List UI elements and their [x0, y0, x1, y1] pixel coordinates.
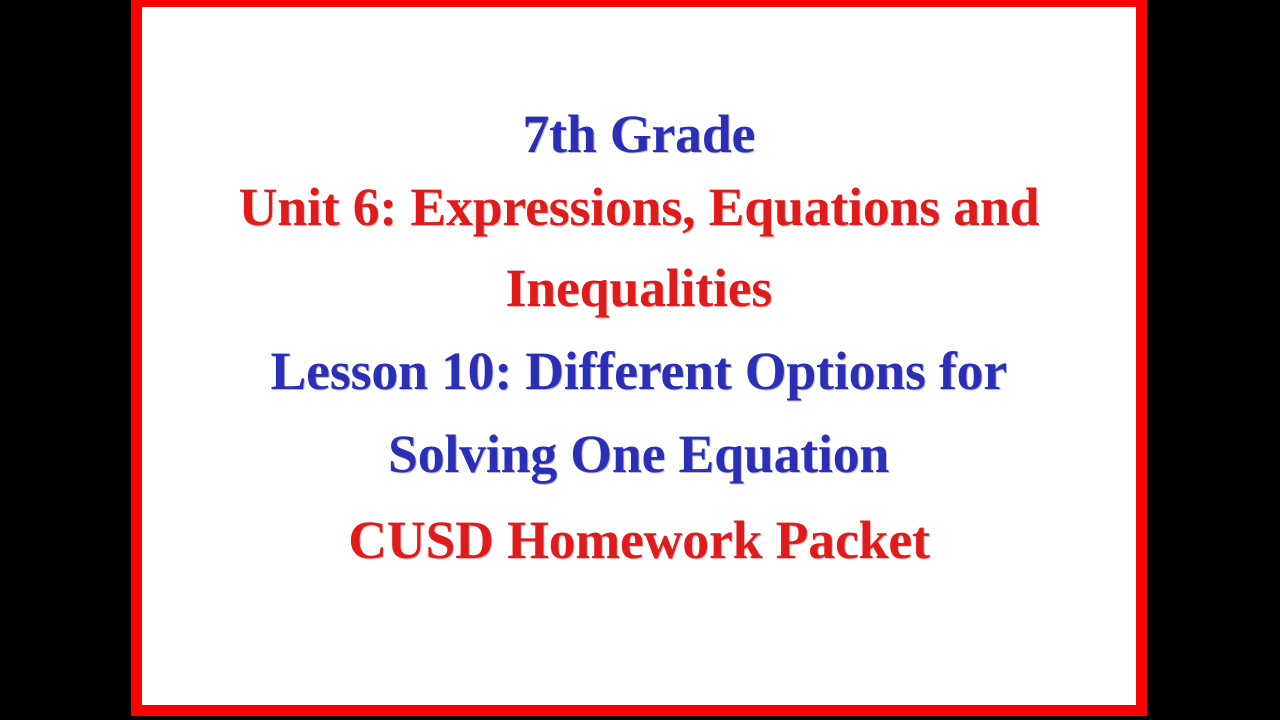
title-line-unit-part-1: Unit 6: Expressions, Equations and [239, 169, 1040, 245]
slide-white-card: 7th Grade Unit 6: Expressions, Equations… [142, 7, 1136, 705]
title-block: 7th Grade Unit 6: Expressions, Equations… [142, 99, 1136, 583]
title-line-unit-part-2: Inequalities [506, 245, 773, 331]
slide-stage: 7th Grade Unit 6: Expressions, Equations… [0, 0, 1280, 720]
slide-red-frame: 7th Grade Unit 6: Expressions, Equations… [131, 0, 1147, 716]
title-line-grade: 7th Grade [523, 99, 756, 169]
title-line-lesson-part-1: Lesson 10: Different Options for [271, 331, 1008, 411]
title-line-lesson-part-2: Solving One Equation [388, 411, 889, 497]
title-line-packet: CUSD Homework Packet [348, 497, 930, 583]
